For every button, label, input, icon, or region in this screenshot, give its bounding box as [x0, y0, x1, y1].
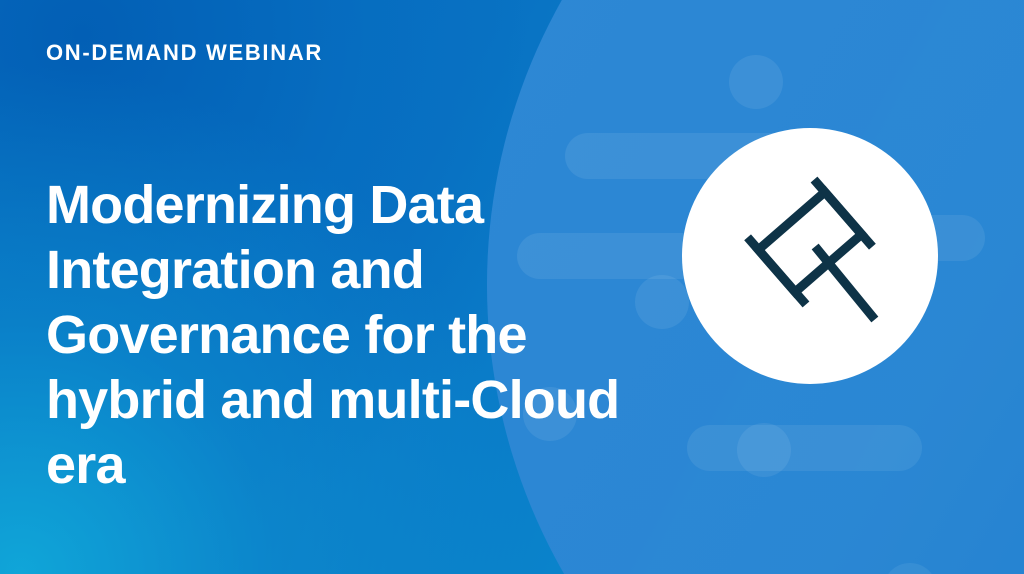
- eyebrow-label: ON-DEMAND WEBINAR: [46, 40, 323, 66]
- gavel-icon: [730, 176, 890, 336]
- headline-line: Governance for the: [46, 303, 646, 368]
- decorative-dot: [729, 55, 783, 109]
- text-content: ON-DEMAND WEBINAR Modernizing Data Integ…: [46, 0, 666, 574]
- decorative-dot: [737, 423, 791, 477]
- page-title: Modernizing Data Integration and Governa…: [46, 173, 646, 498]
- icon-medallion: [682, 128, 938, 384]
- decorative-pill: [687, 425, 922, 471]
- headline-line: Integration and: [46, 238, 646, 303]
- headline-line: Modernizing Data: [46, 173, 646, 238]
- decorative-dot: [883, 563, 937, 574]
- webinar-banner: ON-DEMAND WEBINAR Modernizing Data Integ…: [0, 0, 1024, 574]
- headline-line: hybrid and multi-Cloud: [46, 368, 646, 433]
- headline-line: era: [46, 433, 646, 498]
